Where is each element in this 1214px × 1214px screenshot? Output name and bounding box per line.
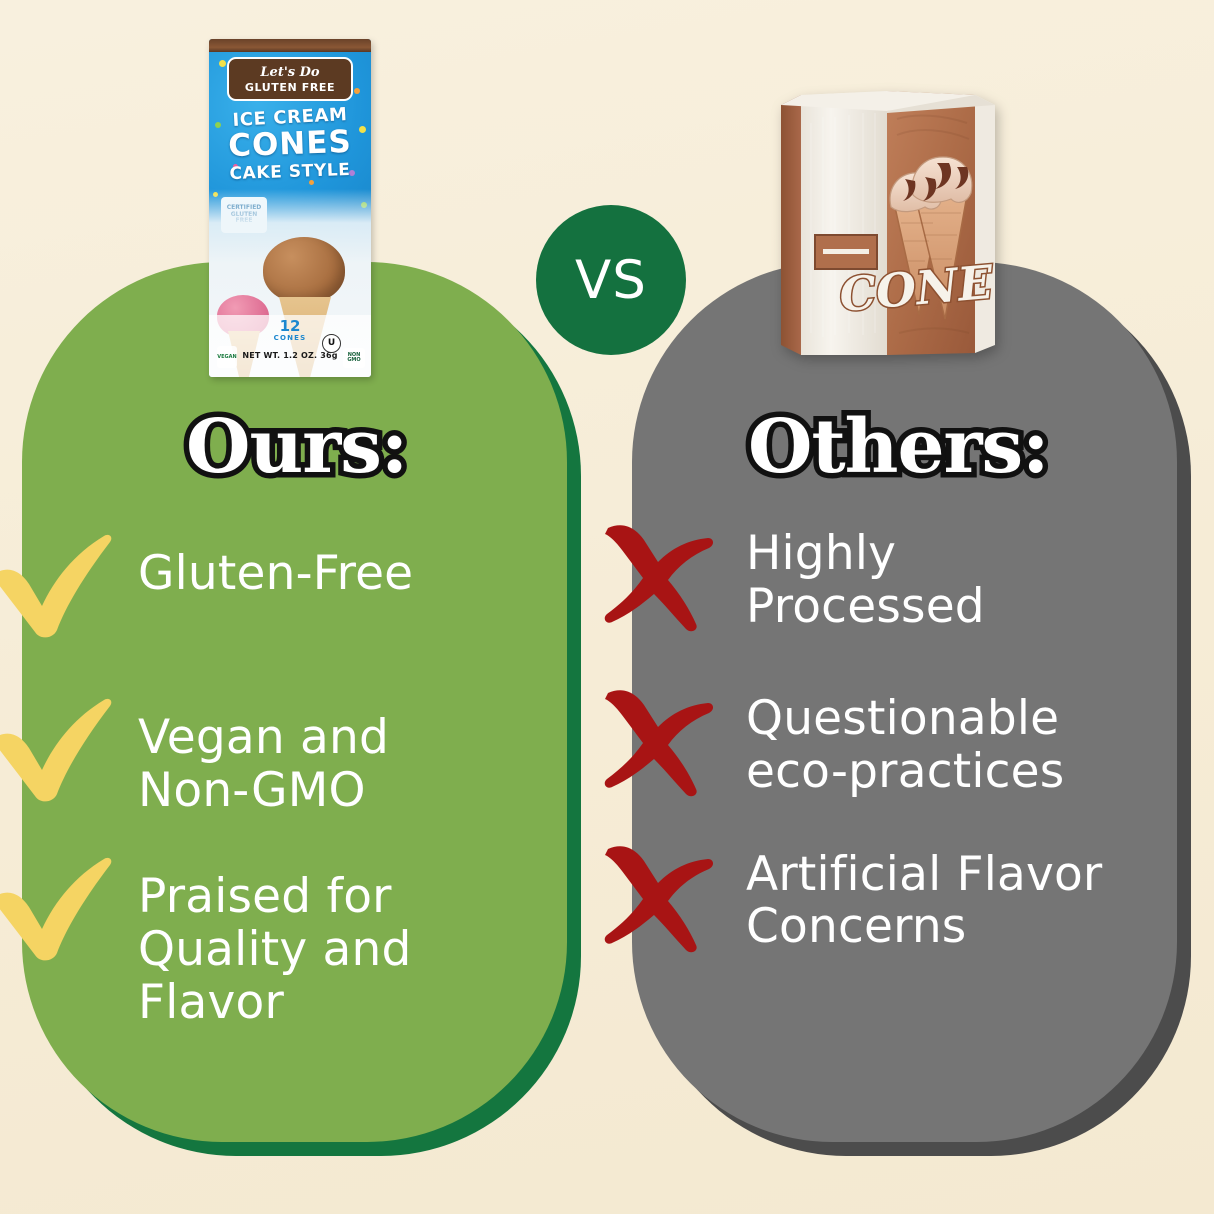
brand-name: Let's Do	[260, 66, 319, 79]
feature-list-ours: Gluten-Free Vegan and Non-GMO Praised fo…	[0, 530, 578, 1055]
check-icon	[0, 530, 138, 638]
feature-row: Gluten-Free	[0, 530, 578, 638]
vs-label: VS	[575, 250, 647, 311]
feature-label: Vegan and Non-GMO	[138, 694, 389, 817]
package-title-line-3: CAKE STYLE	[209, 159, 371, 185]
feature-row: Artificial Flavor Concerns	[596, 841, 1206, 954]
panel-heading-ours: Ours:	[186, 404, 407, 490]
chocolate-scoop-graphic	[263, 237, 345, 303]
product-image-ours: Let's Do GLUTEN FREE ICE CREAM CONES CAK…	[209, 39, 371, 377]
cross-icon	[596, 685, 746, 793]
feature-label: Praised for Quality and Flavor	[138, 853, 412, 1029]
package-title-line-2: CONES	[209, 126, 371, 163]
feature-label: Gluten-Free	[138, 530, 413, 601]
check-icon	[0, 694, 138, 802]
feature-list-others: Highly Processed Questionable eco-practi…	[596, 520, 1206, 980]
cone-count-number: 12	[280, 317, 301, 335]
brand-tagline: GLUTEN FREE	[245, 82, 335, 93]
check-icon	[0, 853, 138, 961]
feature-label: Artificial Flavor Concerns	[746, 841, 1102, 954]
cross-icon	[596, 520, 746, 628]
feature-label: Highly Processed	[746, 520, 985, 633]
vegan-seal-icon: VEGAN	[217, 346, 237, 368]
panel-heading-others: Others:	[748, 404, 1049, 490]
non-gmo-seal-icon: NON GMO	[343, 348, 365, 368]
feature-row: Praised for Quality and Flavor	[0, 853, 578, 1029]
package-title-block: ICE CREAM CONES CAKE STYLE	[209, 107, 371, 182]
infographic-canvas: Ours: Others: Gluten-Free Vegan and Non-…	[0, 0, 1214, 1214]
cross-icon	[596, 841, 746, 949]
package-top-flap	[209, 39, 371, 53]
feature-label: Questionable eco-practices	[746, 685, 1064, 798]
kosher-seal-icon: U	[322, 334, 341, 353]
package-product-photo: 12 CONES NET WT. 1.2 OZ. 36g VEGAN U NON…	[209, 189, 371, 377]
feature-row: Questionable eco-practices	[596, 685, 1206, 798]
package-footer: 12 CONES NET WT. 1.2 OZ. 36g VEGAN U NON…	[209, 315, 371, 377]
vs-badge: VS	[536, 205, 686, 355]
cone-count: 12 CONES	[209, 319, 371, 342]
feature-row: Highly Processed	[596, 520, 1206, 633]
brand-badge: Let's Do GLUTEN FREE	[227, 57, 353, 101]
product-image-others: CONE	[775, 83, 1013, 370]
feature-row: Vegan and Non-GMO	[0, 694, 578, 817]
cone-count-label: CONES	[209, 335, 371, 342]
